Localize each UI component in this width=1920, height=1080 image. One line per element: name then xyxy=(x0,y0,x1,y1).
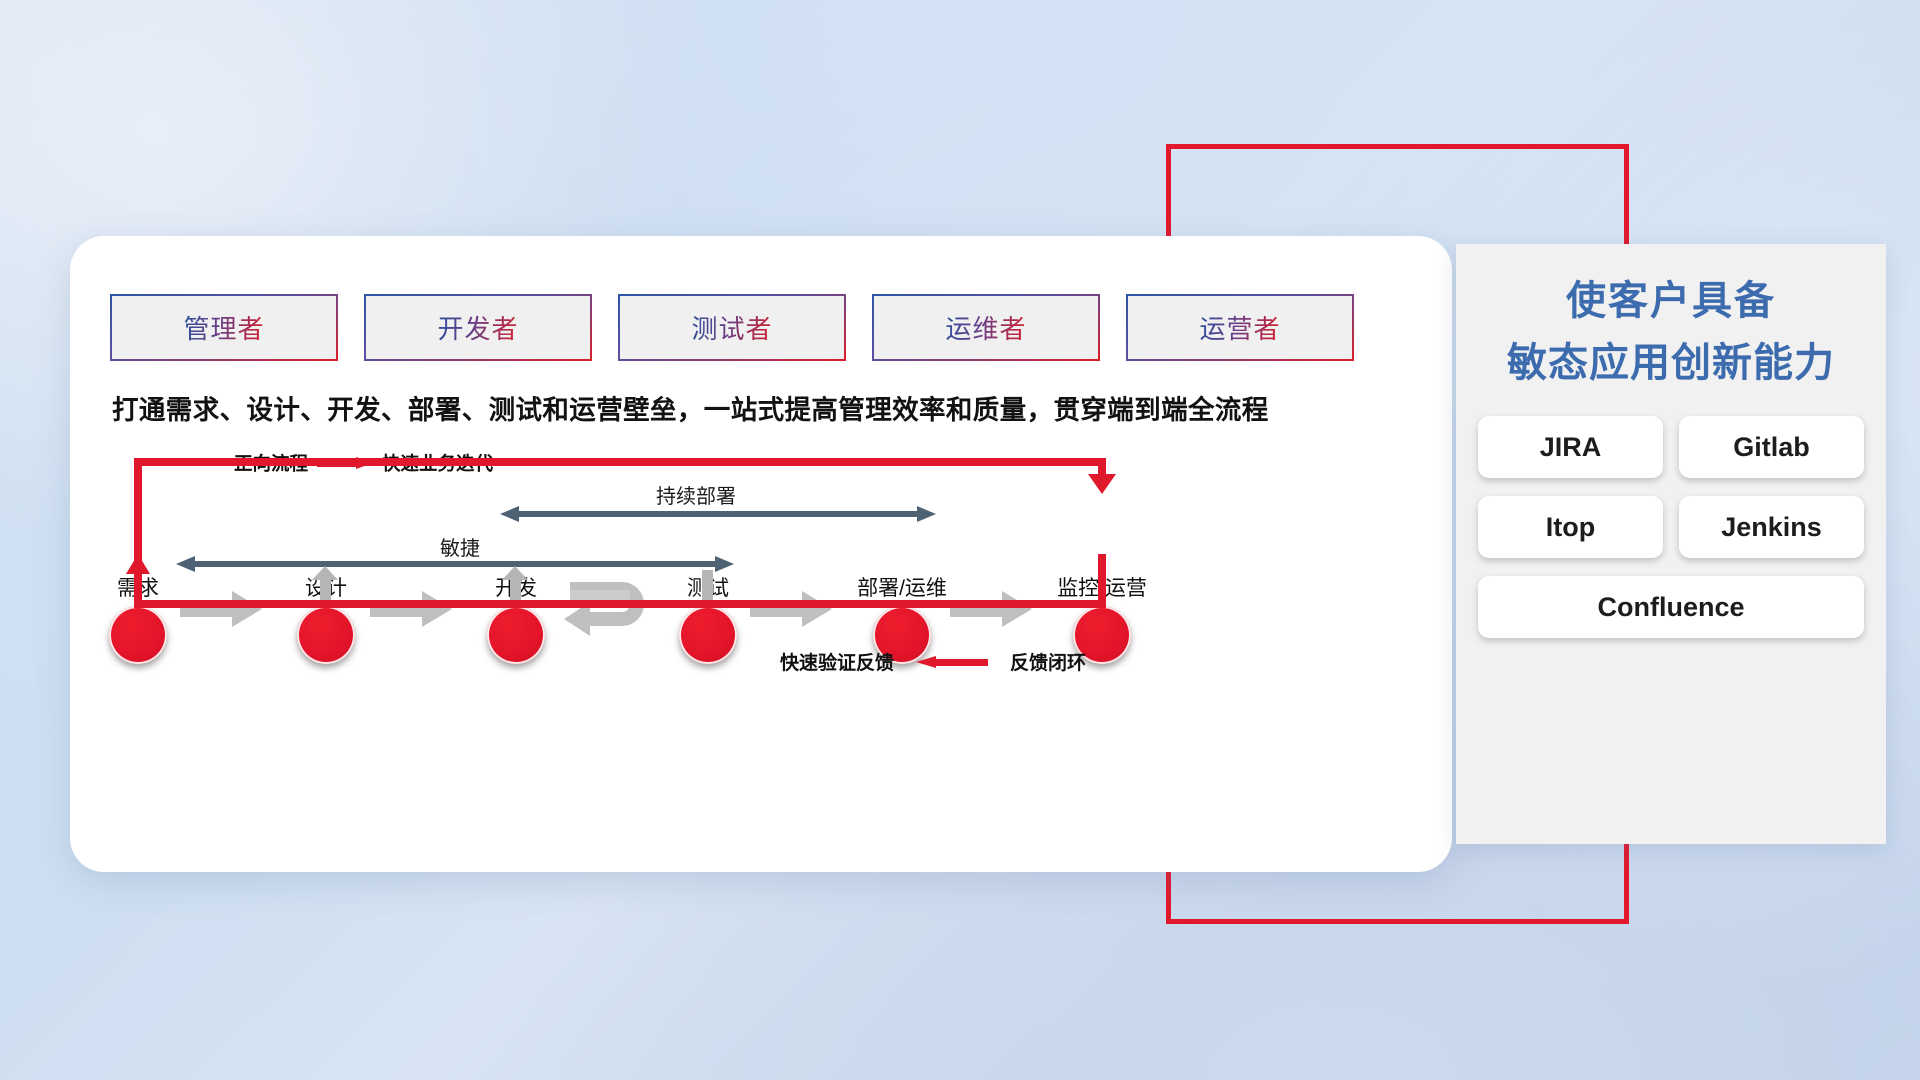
span-label-continuous-deployment: 持续部署 xyxy=(656,480,736,509)
panel-title-line2: 敏态应用创新能力 xyxy=(1478,332,1864,394)
span-arrow-agile xyxy=(176,556,734,572)
stage-dot xyxy=(679,606,737,664)
loop-demand-stem xyxy=(134,572,142,606)
gray-arrow-deploy-to-monitor xyxy=(950,589,1034,629)
role-box-business-ops[interactable]: 运营者 xyxy=(1126,294,1354,361)
arrow-head-right-icon xyxy=(917,506,936,522)
arrow-bar xyxy=(194,561,716,567)
loop-arrowhead-up-icon xyxy=(126,554,150,574)
arrow-bar xyxy=(518,511,918,517)
loop-bottom-segment xyxy=(134,600,1106,608)
role-box-row: 管理者 开发者 测试者 运维者 运营者 xyxy=(110,294,1354,361)
arrow-head-left-icon xyxy=(500,506,519,522)
tool-chip-gitlab[interactable]: Gitlab xyxy=(1679,416,1864,478)
legend-feedback-right-label: 反馈闭环 xyxy=(1010,648,1086,675)
panel-title: 使客户具备 敏态应用创新能力 xyxy=(1478,270,1864,394)
role-label: 运营者 xyxy=(1199,309,1280,346)
stage-dot xyxy=(109,606,167,664)
tool-chip-jira[interactable]: JIRA xyxy=(1478,416,1663,478)
gray-arrow-design-to-develop xyxy=(370,589,454,629)
tool-chip-confluence[interactable]: Confluence xyxy=(1478,576,1864,638)
tool-chip-list: JIRA Gitlab Itop Jenkins Confluence xyxy=(1478,416,1864,638)
panel-title-line1: 使客户具备 xyxy=(1478,270,1864,332)
tool-chip-jenkins[interactable]: Jenkins xyxy=(1679,496,1864,558)
loop-arrowhead-down-icon xyxy=(1088,474,1116,494)
role-box-operations[interactable]: 运维者 xyxy=(872,294,1100,361)
role-label: 运维者 xyxy=(945,309,1026,346)
legend-feedback-loop: 快速验证反馈 反馈闭环 xyxy=(780,648,1086,675)
span-arrow-continuous-deployment xyxy=(500,506,936,522)
role-box-manager[interactable]: 管理者 xyxy=(110,294,338,361)
headline-text: 打通需求、设计、开发、部署、测试和运营壁垒，一站式提高管理效率和质量，贯穿端到端… xyxy=(112,388,1269,427)
gray-arrow-uturn-develop-to-test xyxy=(564,576,660,642)
gray-arrow-test-to-deploy xyxy=(750,589,834,629)
role-box-tester[interactable]: 测试者 xyxy=(618,294,846,361)
main-card: 管理者 开发者 测试者 运维者 运营者 打通需求、设计、开发、部署、测试和运营壁… xyxy=(70,236,1452,872)
role-label: 开发者 xyxy=(437,309,518,346)
legend-feedback-left-label: 快速验证反馈 xyxy=(780,648,894,675)
role-label: 管理者 xyxy=(183,309,264,346)
tool-chip-itop[interactable]: Itop xyxy=(1478,496,1663,558)
loop-top-segment xyxy=(134,458,1106,466)
gray-arrow-req-to-design xyxy=(180,589,264,629)
loop-right-up-segment xyxy=(1098,554,1106,604)
role-box-developer[interactable]: 开发者 xyxy=(364,294,592,361)
stage-dot xyxy=(297,606,355,664)
arrow-left-red-icon xyxy=(916,656,988,668)
stage-dot xyxy=(487,606,545,664)
role-label: 测试者 xyxy=(691,309,772,346)
value-proposition-panel: 使客户具备 敏态应用创新能力 JIRA Gitlab Itop Jenkins … xyxy=(1456,244,1886,844)
stage-label: 部署/运维 xyxy=(842,572,962,602)
arrow-head-left-icon xyxy=(176,556,195,572)
